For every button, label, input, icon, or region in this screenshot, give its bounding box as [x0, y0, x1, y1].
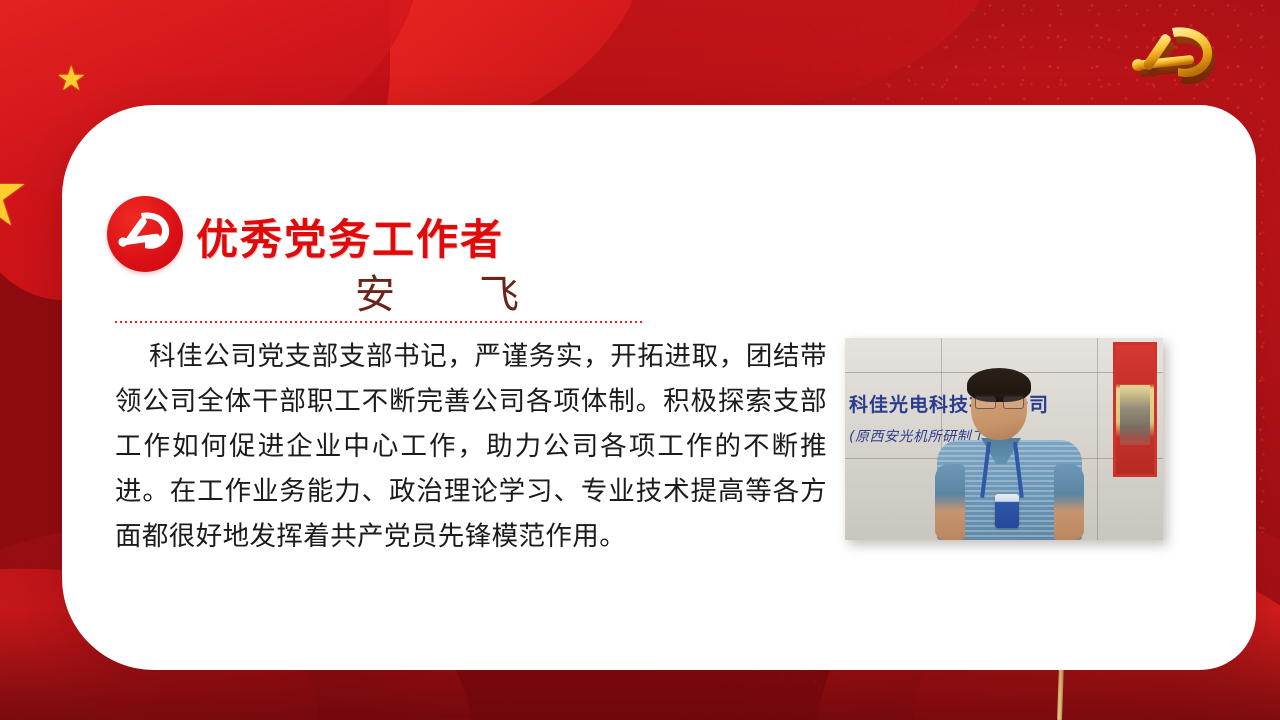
id-badge: [995, 494, 1019, 528]
biography-paragraph: 科佳公司党支部支部书记，严谨务实，开拓进取，团结带领公司全体干部职工不断完善公司…: [115, 334, 827, 559]
wall-seam-v2: [1097, 338, 1098, 540]
biography-text: 科佳公司党支部支部书记，严谨务实，开拓进取，团结带领公司全体干部职工不断完善公司…: [115, 334, 827, 559]
portrait-photo: 科佳光电科技有限公司 (原西安光机所研制工厂): [845, 338, 1163, 540]
dotted-divider: [115, 321, 642, 323]
hammer-and-sickle-emblem-icon: [1108, 20, 1258, 98]
flag-small-star-1: ★: [56, 62, 86, 96]
page-title: 优秀党务工作者: [196, 206, 504, 267]
slide-root: ★ ★ ★ ★ ★: [0, 0, 1280, 720]
right-arm: [1054, 464, 1084, 540]
left-arm: [935, 464, 965, 540]
bulletin-board: [1113, 342, 1157, 477]
bulletin-board-content: [1120, 385, 1150, 445]
flag-big-star: ★: [0, 148, 30, 240]
glasses-icon: [975, 394, 1024, 407]
person-name: 安 飞: [355, 262, 541, 320]
hammer-and-sickle-badge-icon: [107, 196, 183, 272]
person-figure: [937, 368, 1082, 540]
